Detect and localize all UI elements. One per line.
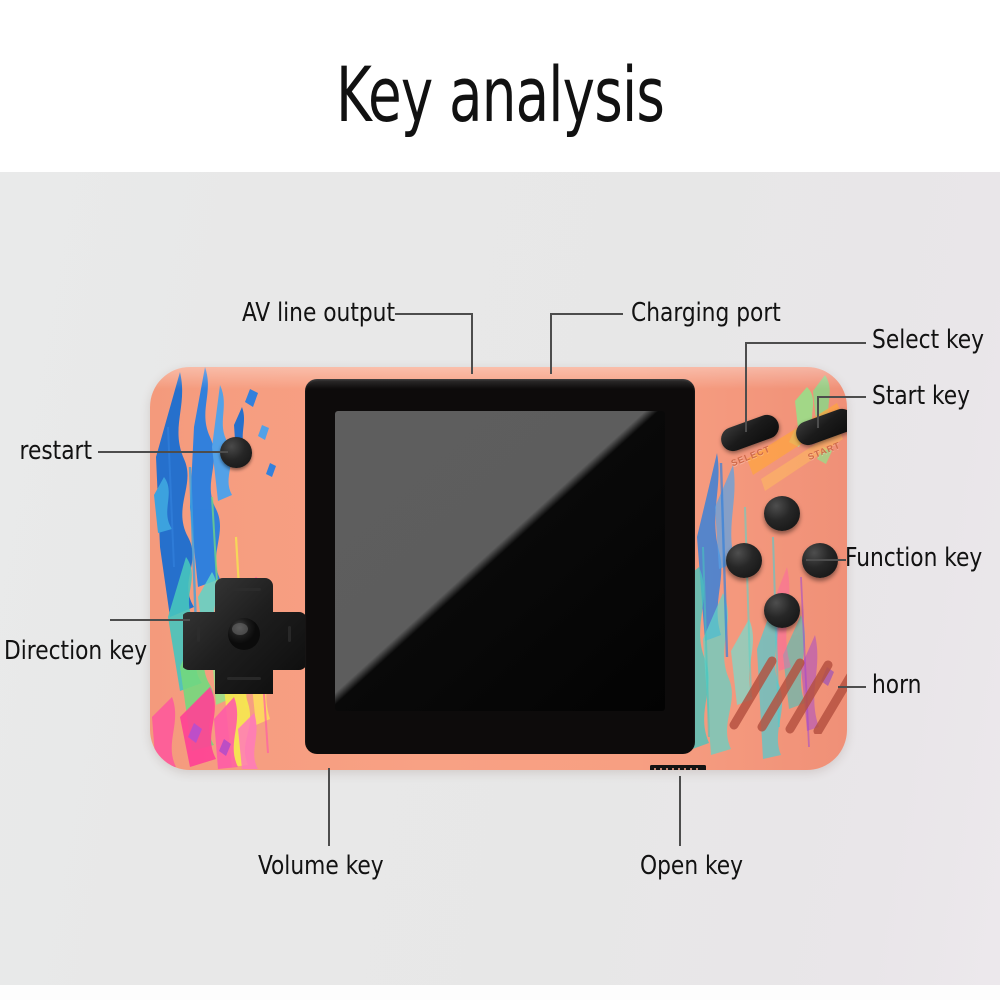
screen-bezel bbox=[305, 379, 695, 754]
open-key-switch[interactable] bbox=[650, 763, 706, 770]
screen-display bbox=[335, 411, 665, 711]
screenshot-canvas: Key analysis bbox=[0, 0, 1000, 1000]
action-button-top[interactable] bbox=[764, 496, 800, 531]
annotation-volume-key: Volume key bbox=[258, 852, 384, 880]
annotation-restart: restart bbox=[0, 437, 92, 465]
device-body: SELECT START bbox=[150, 367, 847, 770]
annotation-start-key: Start key bbox=[872, 382, 970, 410]
annotation-select-key: Select key bbox=[872, 326, 984, 354]
action-button-bottom[interactable] bbox=[764, 593, 800, 628]
annotation-open-key: Open key bbox=[640, 852, 743, 880]
page-title: Key analysis bbox=[100, 56, 900, 134]
direction-pad[interactable] bbox=[183, 574, 305, 694]
paint-splatter-left bbox=[150, 367, 300, 770]
annotation-horn: horn bbox=[872, 671, 921, 699]
horn-speaker-grille bbox=[728, 639, 847, 734]
restart-button[interactable] bbox=[220, 437, 252, 468]
bottom-strip bbox=[0, 985, 1000, 1000]
annotation-av-line-output: AV line output bbox=[86, 299, 395, 327]
action-button-left[interactable] bbox=[726, 543, 762, 578]
function-key-button[interactable] bbox=[802, 543, 838, 578]
annotation-direction-key: Direction key bbox=[4, 637, 147, 665]
annotation-function-key: Function key bbox=[845, 544, 982, 572]
annotation-charging-port: Charging port bbox=[631, 299, 781, 327]
